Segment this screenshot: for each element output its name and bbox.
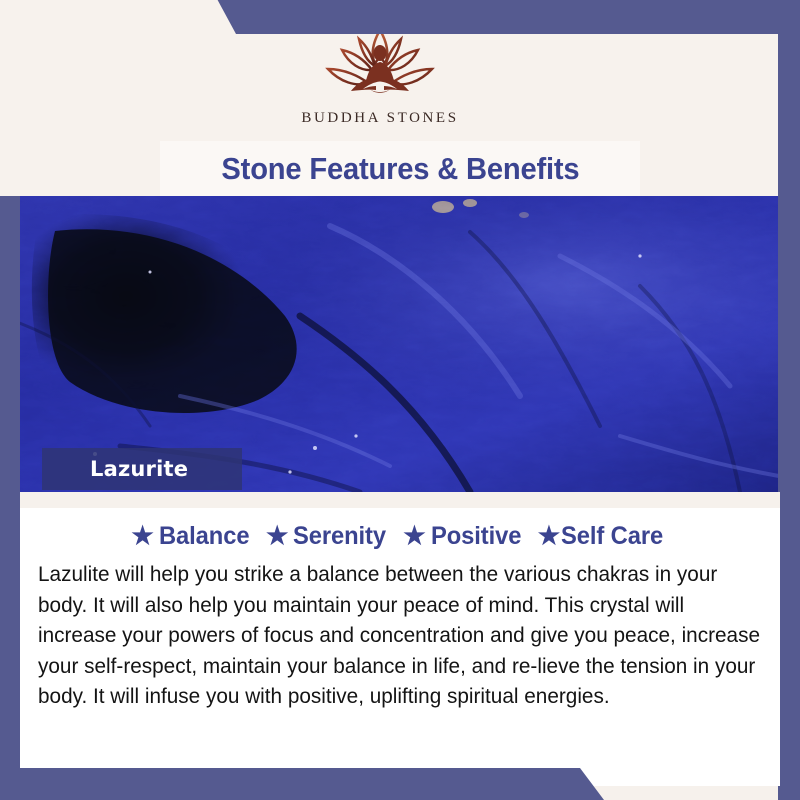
benefit-label-serenity: Serenity [293,522,386,551]
stone-name-tag: Lazurite [42,448,242,490]
brand-logo: BUDDHA STONES [0,22,760,127]
star-icon: ★ [266,524,288,549]
star-icon: ★ [538,524,560,549]
page-title: Stone Features & Benefits [160,141,640,196]
stone-name-label: Lazurite [90,457,188,481]
content-panel: ★ Balance ★ Serenity ★ Positive ★ Self C… [20,508,780,786]
star-icon: ★ [403,524,425,549]
page-title-text: Stone Features & Benefits [221,151,579,187]
panel-separator [20,492,780,508]
star-icon: ★ [131,524,153,549]
decorative-left-border [0,196,20,800]
benefit-label-self-care: Self Care [561,522,663,551]
stone-description: Lazulite will help you strike a balance … [38,559,762,712]
lotus-meditation-icon [320,22,440,106]
stone-feature-card: BUDDHA STONES [0,0,800,800]
brand-name: BUDDHA STONES [301,110,458,127]
decorative-right-border [778,0,800,800]
benefit-label-positive: Positive [431,522,521,551]
benefits-list: ★ Balance ★ Serenity ★ Positive ★ Self C… [38,522,762,551]
benefit-label-balance: Balance [159,522,249,551]
